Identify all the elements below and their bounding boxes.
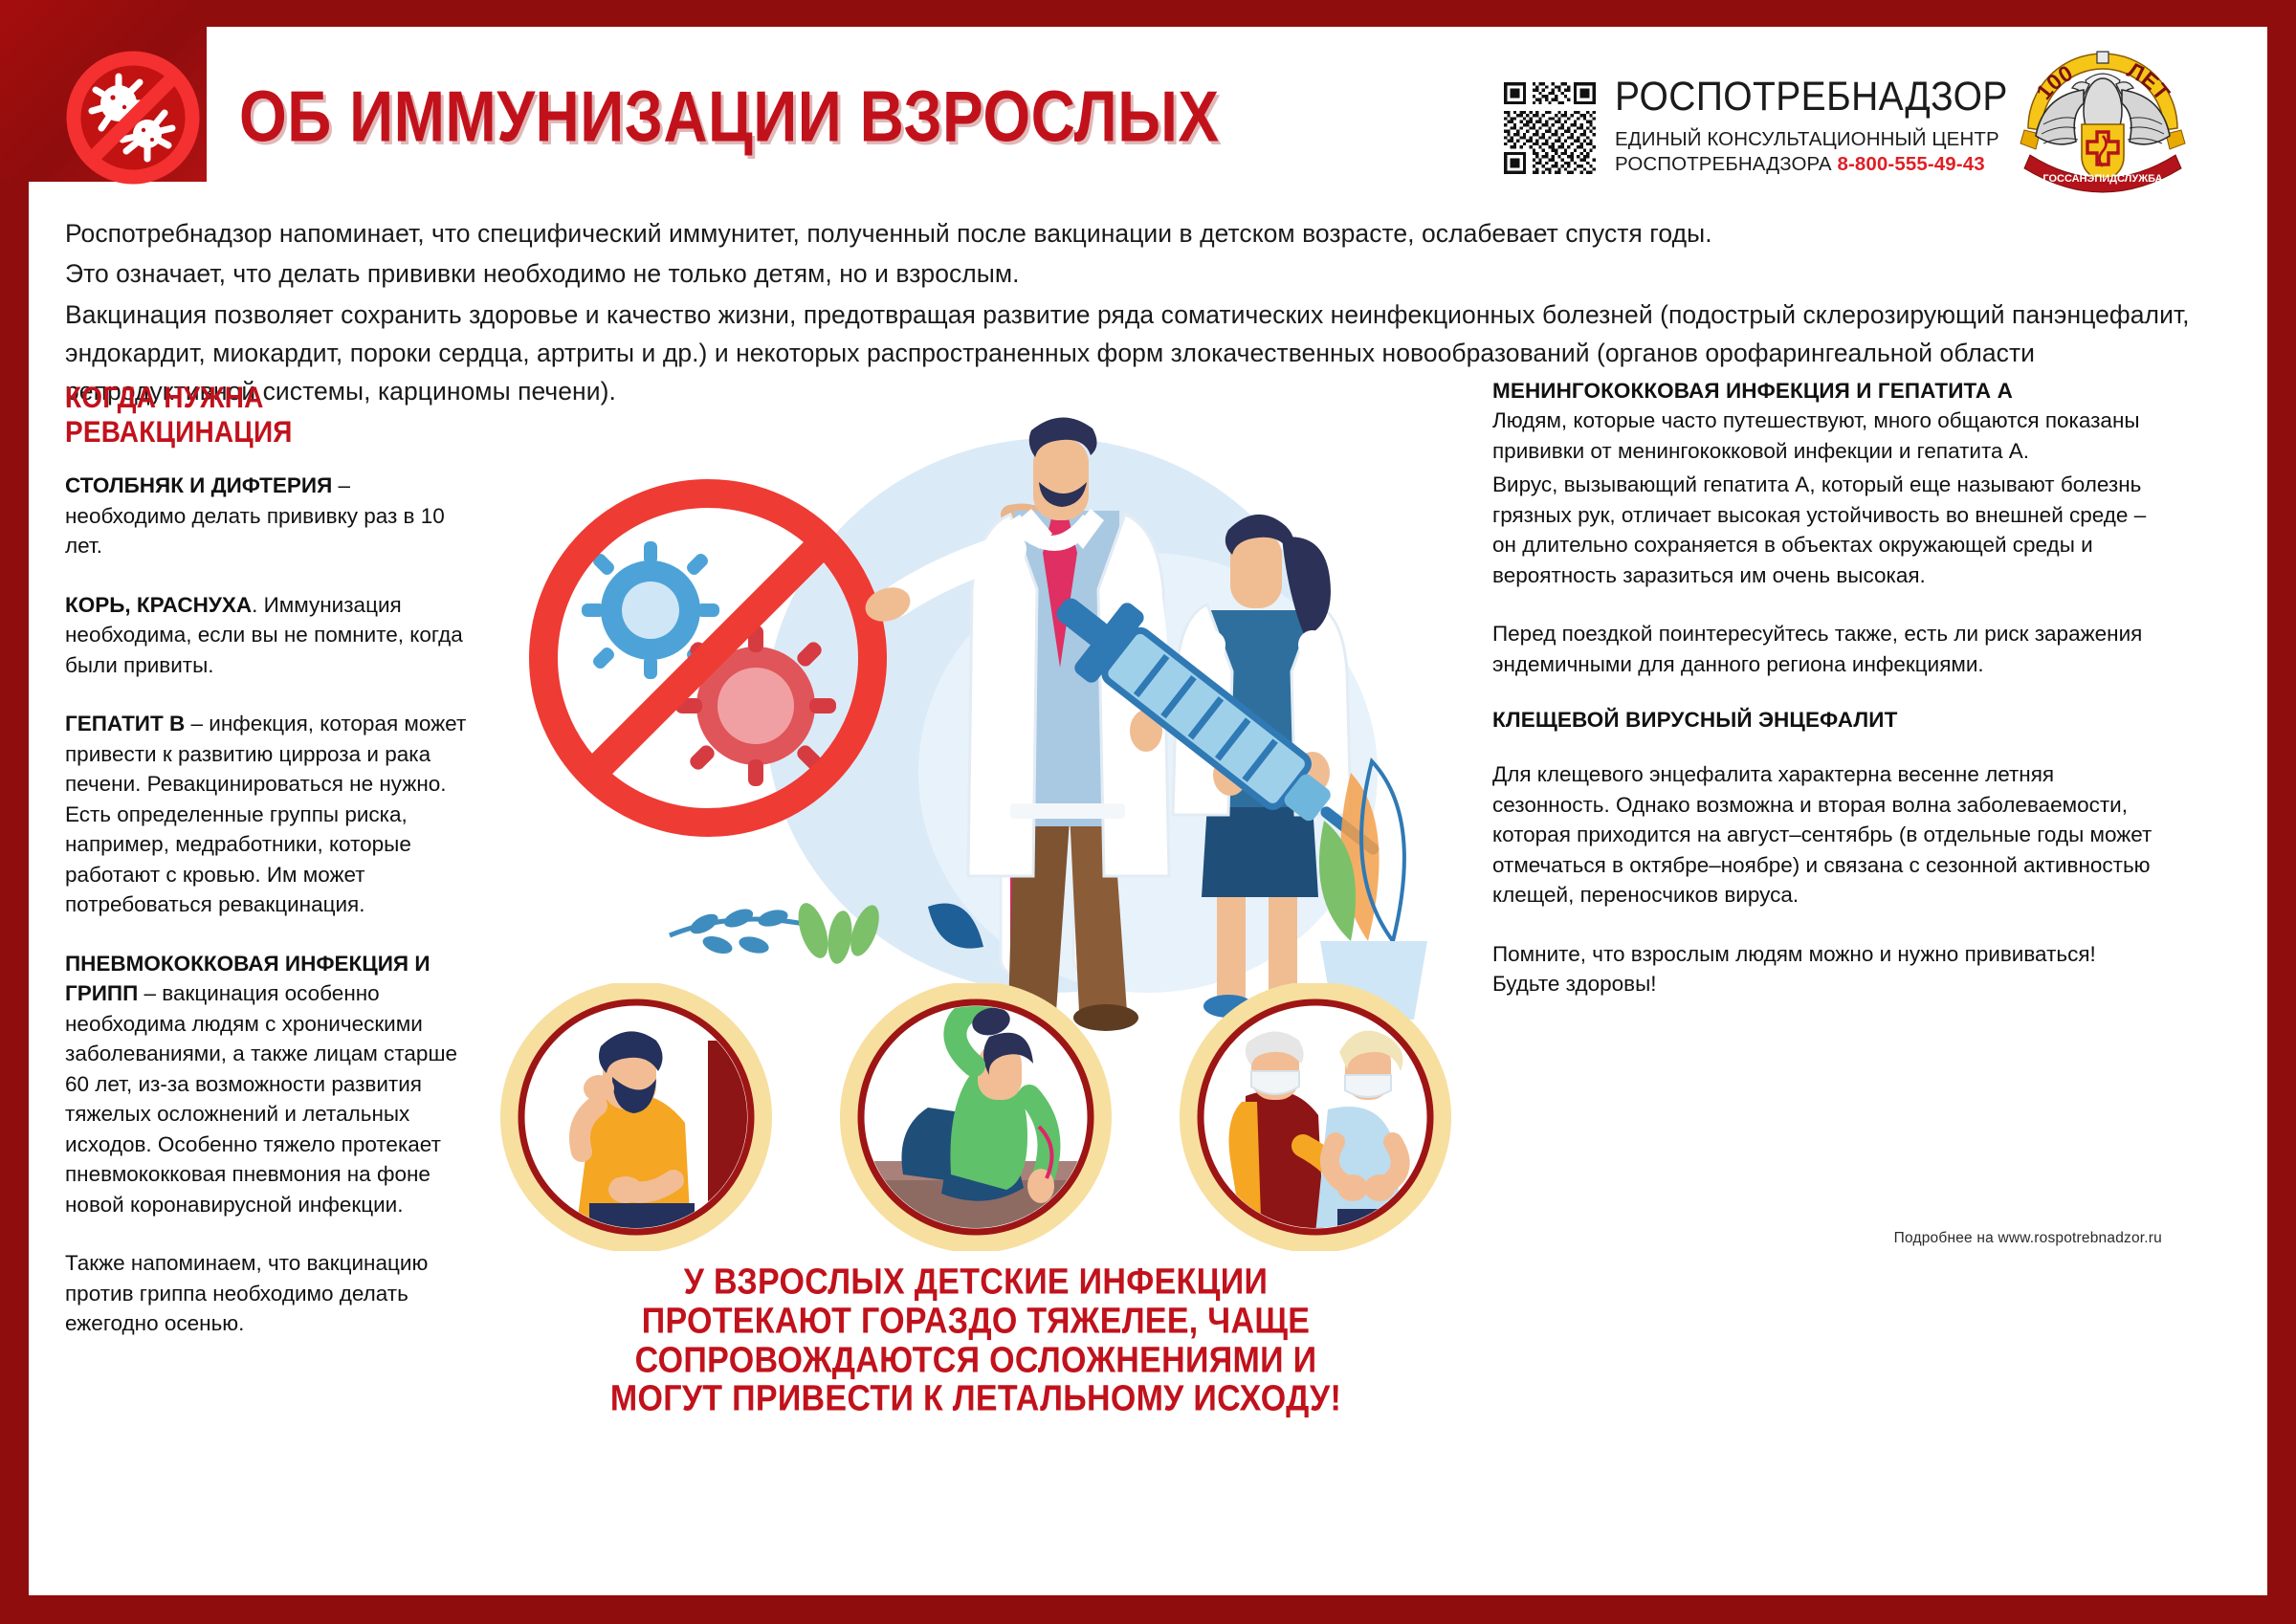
term-pneumococcal-flu-text: – вакцинация особенно необходима людям с… <box>65 981 457 1217</box>
meningococcal-heading: МЕНИНГОКОККОВАЯ ИНФЕКЦИЯ И ГЕПАТИТА А <box>1492 379 2162 404</box>
meningococcal-paragraph-2: Вирус, вызывающий гепатита А, который ещ… <box>1492 470 2162 590</box>
intro-paragraph-1: Роспотребнадзор напоминает, что специфич… <box>65 214 2204 252</box>
term-measles-rubella: КОРЬ, КРАСНУХА <box>65 593 252 617</box>
person-with-headache-in-bed-icon <box>850 991 1102 1251</box>
page-title: ОБ ИММУНИЗАЦИИ ВЗРОСЛЫХ <box>239 75 1220 158</box>
left-section-title: КОГДА НУЖНА РЕВАКЦИНАЦИЯ <box>65 381 467 450</box>
travel-advice-paragraph: Перед поездкой поинтересуйтесь также, ес… <box>1492 619 2162 679</box>
no-virus-icon <box>63 48 203 187</box>
flu-annual-reminder-text: Также напоминаем, что вакцинацию против … <box>65 1251 428 1335</box>
spacer <box>1492 735 2162 759</box>
list-item: КОРЬ, КРАСНУХА. Иммунизация необходима, … <box>65 590 467 681</box>
warning-line-2: ПРОТЕКАЮТ ГОРАЗДО ТЯЖЕЛЕЕ, ЧАЩЕ <box>478 1300 1473 1344</box>
org-name: РОСПОТРЕБНАДЗОР <box>1615 77 2008 118</box>
hotline-phone[interactable]: 8-800-555-49-43 <box>1838 153 1985 175</box>
doctors-illustration <box>478 371 1473 1041</box>
poster-root: ОБ ИММУНИЗАЦИИ ВЗРОСЛЫХ <box>0 0 2296 1624</box>
warning-line-1: У ВЗРОСЛЫХ ДЕТСКИЕ ИНФЕКЦИИ <box>478 1261 1473 1305</box>
consult-line-2: РОСПОТРЕБНАДЗОРА 8-800-555-49-43 <box>1615 152 2008 177</box>
sick-man-coughing-icon <box>510 991 794 1251</box>
consult-line-1: ЕДИНЫЙ КОНСУЛЬТАЦИОННЫЙ ЦЕНТР <box>1615 127 2008 152</box>
term-hepatitis-b-text: – инфекция, которая может привести к раз… <box>65 712 466 916</box>
meningococcal-paragraph-1: Людям, которые часто путешествуют, много… <box>1492 406 2162 466</box>
warning-text-block: У ВЗРОСЛЫХ ДЕТСКИЕ ИНФЕКЦИИ ПРОТЕКАЮТ ГО… <box>478 1261 1473 1416</box>
list-item: СТОЛБНЯК И ДИФТЕРИЯ – необходимо делать … <box>65 471 467 561</box>
poster-sheet: ОБ ИММУНИЗАЦИИ ВЗРОСЛЫХ <box>29 27 2267 1595</box>
term-tetanus-diphtheria: СТОЛБНЯК И ДИФТЕРИЯ <box>65 473 332 497</box>
list-item: ПНЕВМОКОККОВАЯ ИНФЕКЦИЯ И ГРИПП – вакцин… <box>65 949 467 1220</box>
term-hepatitis-b: ГЕПАТИТ В <box>65 712 185 735</box>
warning-line-4: МОГУТ ПРИВЕСТИ К ЛЕТАЛЬНОМУ ИСХОДУ! <box>478 1377 1473 1421</box>
qr-code-icon <box>1504 82 1596 174</box>
intro-paragraph-2: Это означает, что делать прививки необхо… <box>65 254 2204 293</box>
rospotrebnadzor-block: РОСПОТРЕБНАДЗОР ЕДИНЫЙ КОНСУЛЬТАЦИОННЫЙ … <box>1615 77 2008 177</box>
list-item: ГЕПАТИТ В – инфекция, которая может прив… <box>65 709 467 920</box>
emblem-ribbon-text: ГОССАНЭПИДСЛУЖБА <box>2042 173 2162 185</box>
poster-header: ОБ ИММУНИЗАЦИИ ВЗРОСЛЫХ <box>29 27 2267 182</box>
closing-paragraph: Помните, что взрослым людям можно и нужн… <box>1492 939 2162 999</box>
left-column: КОГДА НУЖНА РЕВАКЦИНАЦИЯ СТОЛБНЯК И ДИФТ… <box>65 381 467 1368</box>
warning-line-3: СОПРОВОЖДАЮТСЯ ОСЛОЖНЕНИЯМИ И <box>478 1339 1473 1383</box>
tick-encephalitis-paragraph: Для клещевого энцефалита характерна весе… <box>1492 759 2162 911</box>
consult-line-2-label: РОСПОТРЕБНАДЗОРА <box>1615 153 1832 175</box>
list-item: Также напоминаем, что вакцинацию против … <box>65 1248 467 1339</box>
footer-website-note[interactable]: Подробнее на www.rospotrebnadzor.ru <box>1492 1230 2162 1247</box>
right-column: МЕНИНГОКОККОВАЯ ИНФЕКЦИЯ И ГЕПАТИТА А Лю… <box>1492 379 2162 1003</box>
rospotrebnadzor-emblem-icon: 100 ЛЕТ <box>2015 23 2191 197</box>
tick-encephalitis-heading: КЛЕЩЕВОЙ ВИРУСНЫЙ ЭНЦЕФАЛИТ <box>1492 708 2162 733</box>
symptom-circles <box>469 983 1483 1251</box>
consult-center-info: ЕДИНЫЙ КОНСУЛЬТАЦИОННЫЙ ЦЕНТР РОСПОТРЕБН… <box>1615 127 2008 177</box>
spacer <box>1492 683 2162 708</box>
spacer <box>1492 914 2162 939</box>
spacer <box>1492 594 2162 619</box>
elderly-couple-in-masks-icon <box>1189 991 1442 1251</box>
